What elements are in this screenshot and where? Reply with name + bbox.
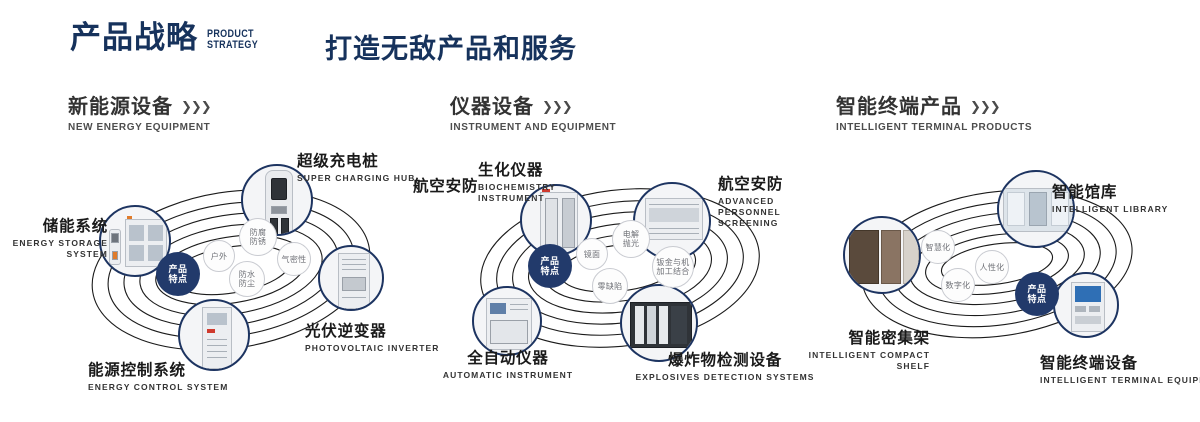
chevron-right-icon-2: ❯❯❯ xyxy=(542,99,572,115)
caption-intelligent-terminal-equipment-en: INTELLIGENT TERMINAL EQUIPMENT xyxy=(1040,375,1200,386)
product-node-energy-control-system[interactable] xyxy=(178,299,250,371)
caption-aviation-security-left-cn: 航空安防 xyxy=(413,178,478,196)
caption-intelligent-library: 智能馆库 INTELLIGENT LIBRARY xyxy=(1052,184,1168,215)
energy-control-system-image xyxy=(180,301,248,369)
caption-super-charging-hub: 超级充电桩 SUPER CHARGING HUB xyxy=(297,153,416,184)
caption-super-charging-hub-cn: 超级充电桩 xyxy=(297,153,416,171)
caption-intelligent-library-en: INTELLIGENT LIBRARY xyxy=(1052,204,1168,215)
feature-bubble-2-sheetmetal[interactable]: 钣金与机加工结合 xyxy=(652,246,694,288)
caption-automatic-instrument-cn: 全自动仪器 xyxy=(418,350,598,368)
caption-biochemistry-instrument: 生化仪器 BIOCHEMISTRY INSTRUMENT xyxy=(478,162,570,204)
chevron-right-icon-1: ❯❯❯ xyxy=(181,99,211,115)
product-node-explosives-detection[interactable] xyxy=(620,284,698,362)
caption-energy-storage-system-en: ENERGY STORAGE SYSTEM xyxy=(0,238,108,260)
product-node-intelligent-compact-shelf[interactable] xyxy=(843,216,921,294)
caption-energy-control-system: 能源控制系统 ENERGY CONTROL SYSTEM xyxy=(88,362,228,393)
feature-bubble-2-sheetmetal-label: 钣金与机加工结合 xyxy=(656,258,690,276)
page-title-cn: 产品战略 xyxy=(70,22,198,53)
feature-bubble-2-mirror[interactable]: 镜面 xyxy=(576,238,608,270)
caption-advanced-personnel-screening: 航空安防 ADVANCED PERSONNEL SCREENING xyxy=(718,176,818,229)
feature-bubble-main-2-line2: 特点 xyxy=(540,266,559,276)
explosives-detection-image xyxy=(622,286,696,360)
caption-intelligent-terminal-equipment-cn: 智能终端设备 xyxy=(1040,355,1200,373)
feature-bubble-2-electropolish[interactable]: 电解抛光 xyxy=(612,220,650,258)
feature-bubble-3-smart[interactable]: 智慧化 xyxy=(921,230,955,264)
section-title-cn-3: 智能终端产品 xyxy=(836,96,962,118)
product-node-intelligent-terminal-equipment[interactable] xyxy=(1053,272,1119,338)
caption-energy-storage-system: 储能系统 ENERGY STORAGE SYSTEM xyxy=(0,218,108,260)
feature-bubble-2-zerodefect[interactable]: 零缺陷 xyxy=(592,268,628,304)
caption-explosives-detection-en: EXPLOSIVES DETECTION SYSTEMS xyxy=(620,372,830,383)
product-strategy-infographic: 产品战略 PRODUCT STRATEGY 打造无敌产品和服务 新能源设备❯❯❯… xyxy=(0,0,1200,422)
caption-advanced-personnel-screening-en: ADVANCED PERSONNEL SCREENING xyxy=(718,196,818,229)
feature-bubble-main-1[interactable]: 产品 特点 xyxy=(156,252,200,296)
caption-intelligent-compact-shelf-en: INTELLIGENT COMPACT SHELF xyxy=(790,350,930,372)
feature-bubble-1-waterproof[interactable]: 防水防尘 xyxy=(229,261,265,297)
caption-automatic-instrument: 全自动仪器 AUTOMATIC INSTRUMENT xyxy=(418,350,598,381)
automatic-instrument-image xyxy=(474,288,540,354)
intelligent-compact-shelf-image xyxy=(845,218,919,292)
feature-bubble-main-3[interactable]: 产品 特点 xyxy=(1015,272,1059,316)
caption-intelligent-terminal-equipment: 智能终端设备 INTELLIGENT TERMINAL EQUIPMENT xyxy=(1040,355,1200,386)
section-heading-instrument: 仪器设备❯❯❯ INSTRUMENT AND EQUIPMENT xyxy=(450,96,616,133)
caption-aviation-security-left: 航空安防 xyxy=(413,178,478,196)
chevron-right-icon-3: ❯❯❯ xyxy=(970,99,1000,115)
feature-bubble-main-1-line2: 特点 xyxy=(168,274,187,284)
caption-biochemistry-instrument-en: BIOCHEMISTRY INSTRUMENT xyxy=(478,182,570,204)
page-title-en-line2: STRATEGY xyxy=(207,40,258,51)
photovoltaic-inverter-image xyxy=(320,247,382,309)
page-subtitle: 打造无敌产品和服务 xyxy=(325,36,577,63)
product-node-automatic-instrument[interactable] xyxy=(472,286,542,356)
feature-bubble-main-3-line1: 产品 xyxy=(1027,284,1046,294)
page-title-en: PRODUCT STRATEGY xyxy=(207,29,258,51)
section-heading-intelligent-terminal: 智能终端产品❯❯❯ INTELLIGENT TERMINAL PRODUCTS xyxy=(836,96,1032,133)
caption-super-charging-hub-en: SUPER CHARGING HUB xyxy=(297,173,416,184)
caption-advanced-personnel-screening-cn: 航空安防 xyxy=(718,176,818,194)
caption-intelligent-compact-shelf: 智能密集架 INTELLIGENT COMPACT SHELF xyxy=(790,330,930,372)
caption-energy-control-system-cn: 能源控制系统 xyxy=(88,362,228,380)
feature-bubble-1-anticorrosion[interactable]: 防腐防锈 xyxy=(239,218,277,256)
page-header: 产品战略 PRODUCT STRATEGY xyxy=(70,22,269,53)
section-title-en-2: INSTRUMENT AND EQUIPMENT xyxy=(450,122,616,133)
caption-intelligent-library-cn: 智能馆库 xyxy=(1052,184,1168,202)
feature-bubble-1-anticorrosion-label: 防腐防锈 xyxy=(247,228,269,246)
feature-bubble-1-waterproof-label: 防水防尘 xyxy=(237,270,257,288)
feature-bubble-2-electropolish-label: 电解抛光 xyxy=(620,230,642,248)
caption-automatic-instrument-en: AUTOMATIC INSTRUMENT xyxy=(418,370,598,381)
feature-bubble-3-humanized[interactable]: 人性化 xyxy=(975,250,1009,284)
feature-bubble-1-airtight-label: 气密性 xyxy=(281,255,307,264)
feature-bubble-3-digital[interactable]: 数字化 xyxy=(941,268,975,302)
feature-bubble-main-2-line1: 产品 xyxy=(540,256,559,266)
feature-bubble-main-3-line2: 特点 xyxy=(1027,294,1046,304)
caption-energy-storage-system-cn: 储能系统 xyxy=(0,218,108,236)
section-title-en-1: NEW ENERGY EQUIPMENT xyxy=(68,122,211,133)
section-heading-new-energy: 新能源设备❯❯❯ NEW ENERGY EQUIPMENT xyxy=(68,96,211,133)
feature-bubble-main-2[interactable]: 产品 特点 xyxy=(528,244,572,288)
feature-bubble-1-airtight[interactable]: 气密性 xyxy=(277,242,311,276)
caption-photovoltaic-inverter-cn: 光伏逆变器 xyxy=(305,323,440,341)
caption-intelligent-compact-shelf-cn: 智能密集架 xyxy=(790,330,930,348)
section-title-en-3: INTELLIGENT TERMINAL PRODUCTS xyxy=(836,122,1032,133)
feature-bubble-main-1-line1: 产品 xyxy=(168,264,187,274)
intelligent-terminal-equipment-image xyxy=(1055,274,1117,336)
section-title-cn-2: 仪器设备 xyxy=(450,96,534,118)
feature-bubble-1-outdoor[interactable]: 户外 xyxy=(203,240,235,272)
product-node-photovoltaic-inverter[interactable] xyxy=(318,245,384,311)
caption-biochemistry-instrument-cn: 生化仪器 xyxy=(478,162,570,180)
caption-energy-control-system-en: ENERGY CONTROL SYSTEM xyxy=(88,382,228,393)
section-title-cn-1: 新能源设备 xyxy=(68,96,173,118)
